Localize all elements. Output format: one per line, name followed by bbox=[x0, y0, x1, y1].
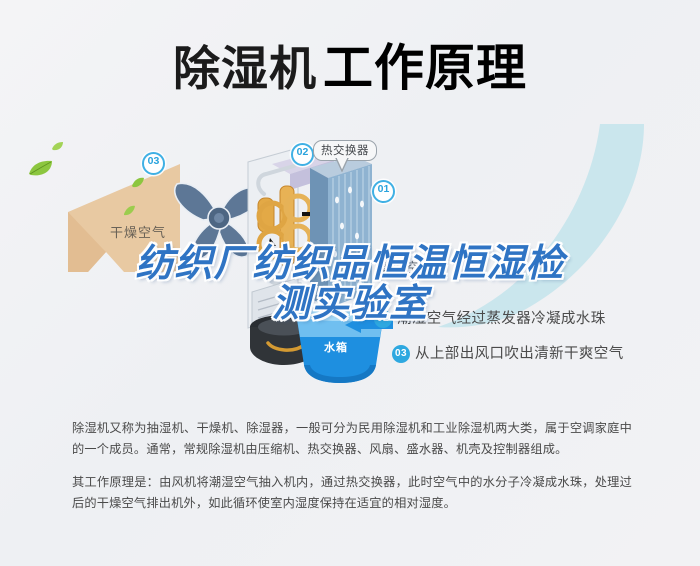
water-tank-label: 水箱 bbox=[324, 339, 348, 355]
body-copy: 除湿机又称为抽湿机、干燥机、除湿器，一般可分为民用除湿机和工业除湿机两大类，属于… bbox=[72, 418, 632, 514]
callout-tail-icon bbox=[335, 158, 349, 172]
body-paragraph-2: 其工作原理是：由风机将潮湿空气抽入机内，通过热交换器，此时空气中的水分子冷凝成水… bbox=[72, 472, 632, 514]
step-3-badge: 03 bbox=[392, 345, 410, 363]
step-line-2: 02潮湿空气经过蒸发器冷凝成水珠 bbox=[374, 307, 606, 328]
step-2-text: 潮湿空气经过蒸发器冷凝成水珠 bbox=[397, 311, 606, 327]
badge-heat-exchanger: 02 bbox=[291, 143, 314, 166]
label-humid-air: 潮湿空气 bbox=[378, 257, 434, 276]
step-3-text: 从上部出风口吹出清新干爽空气 bbox=[415, 346, 624, 362]
infographic-page: 除湿机工作原理 bbox=[0, 0, 700, 566]
page-title-part1: 除湿机 bbox=[173, 42, 317, 95]
leaf-icon bbox=[28, 160, 54, 177]
page-title-part2: 工作原理 bbox=[323, 40, 527, 96]
leaf-icon bbox=[131, 177, 145, 188]
humid-airflow-swoosh-icon bbox=[398, 124, 648, 329]
badge-dry-air: 03 bbox=[142, 152, 165, 175]
leaf-icon bbox=[52, 142, 64, 151]
leaf-icon bbox=[123, 205, 136, 216]
body-paragraph-1: 除湿机又称为抽湿机、干燥机、除湿器，一般可分为民用除湿机和工业除湿机两大类，属于… bbox=[72, 418, 632, 460]
step-2-badge: 02 bbox=[374, 310, 392, 328]
dehumidifier-machine-icon bbox=[238, 142, 378, 337]
step-line-3: 03从上部出风口吹出清新干爽空气 bbox=[392, 342, 624, 363]
label-dry-air: 干燥空气 bbox=[110, 222, 166, 241]
badge-humid-air: 01 bbox=[372, 180, 395, 203]
page-title: 除湿机工作原理 bbox=[0, 28, 700, 100]
dehumidifier-diagram: 水箱 03 02 01 干燥空气 潮湿空气 热交换器 02潮湿空气经过蒸发器冷凝… bbox=[0, 120, 700, 400]
